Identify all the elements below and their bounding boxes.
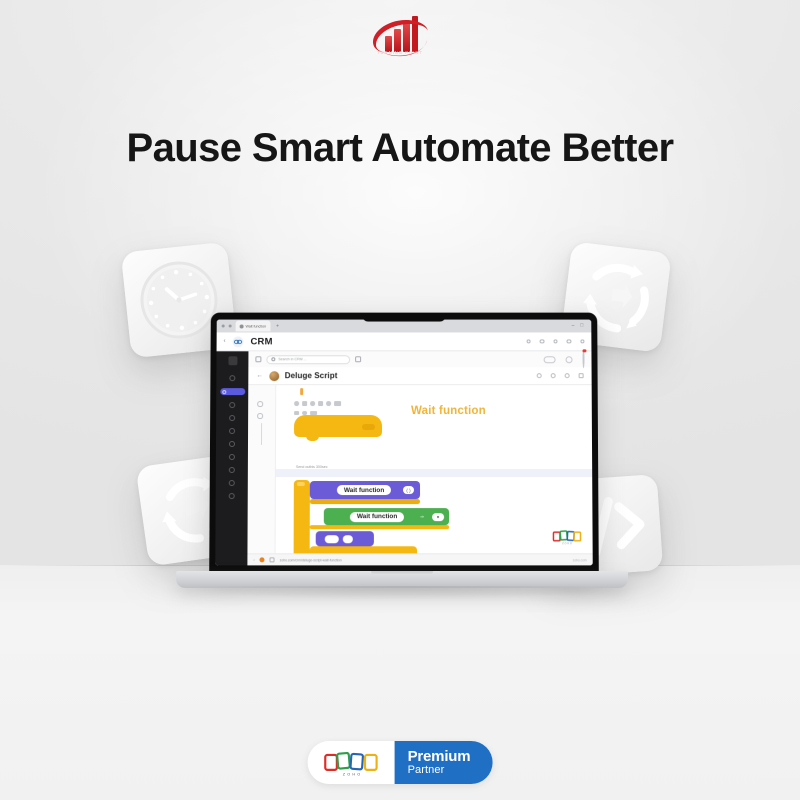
partner-badge-tier-side: Premium Partner <box>395 741 493 784</box>
svg-text:TURNING POINT: TURNING POINT <box>377 50 423 55</box>
sidebar-item-tasks[interactable] <box>229 441 235 447</box>
canvas-scrollbar[interactable] <box>261 423 262 445</box>
crm-content: Search in CRM ... <box>247 351 592 565</box>
svg-text:ZOHO: ZOHO <box>562 543 573 545</box>
browser-statusbar: ‹ zoho.com/crm/deluge-script-wait-functi… <box>247 553 592 565</box>
poster-canvas: TURNING POINT Pause Smart Automate Bette… <box>0 0 800 800</box>
canvas-toolbar <box>294 401 341 415</box>
partner-role: Partner <box>408 764 471 777</box>
sidebar-item-home[interactable] <box>229 375 235 381</box>
search-icon <box>271 357 275 361</box>
param-block-purple[interactable] <box>316 531 374 546</box>
sidebar-item-contacts[interactable] <box>229 402 235 408</box>
laptop-shadow <box>184 586 620 600</box>
svg-text:ZOHO: ZOHO <box>343 772 363 776</box>
tool-icon-2[interactable] <box>302 401 307 406</box>
page-icon[interactable] <box>270 557 275 562</box>
sidebar-item-active[interactable] <box>220 388 245 395</box>
sidebar-item-accounts[interactable] <box>229 415 235 421</box>
zoho-watermark-icon: ZOHO <box>552 529 582 545</box>
calendar-icon[interactable] <box>540 339 545 343</box>
gutter-icon-2[interactable] <box>257 413 263 418</box>
stack-spine <box>293 480 309 553</box>
tool-icon-1[interactable] <box>294 401 299 406</box>
minimize-button[interactable]: – <box>572 324 575 329</box>
recording-icon <box>260 557 265 562</box>
minimize-icon[interactable] <box>537 373 542 378</box>
crm-app-body: Search in CRM ... <box>215 351 592 565</box>
crm-quick-actions <box>544 350 585 368</box>
app-brand-icon <box>228 356 237 365</box>
param-slot-2[interactable] <box>343 535 353 543</box>
hat-block[interactable] <box>294 415 382 437</box>
canvas-heading: Wait function <box>411 405 486 417</box>
wait-function-arg-green[interactable]: ● <box>432 513 444 521</box>
user-avatar[interactable] <box>269 371 279 381</box>
document-back-button[interactable]: ← <box>256 372 263 379</box>
play-icon[interactable] <box>551 373 556 378</box>
wait-function-block-purple[interactable]: Wait function ( ) <box>310 481 420 499</box>
info-icon[interactable] <box>565 373 570 378</box>
brand-logo-icon: TURNING POINT <box>368 12 432 60</box>
notifications-button[interactable] <box>582 350 584 368</box>
sidebar-item-reports[interactable] <box>229 467 235 473</box>
maximize-button[interactable]: □ <box>580 324 583 329</box>
sidebar-item-deals[interactable] <box>229 428 235 434</box>
param-slot-1[interactable] <box>325 535 339 543</box>
tool-icon-7[interactable] <box>294 411 299 416</box>
status-url: zoho.com/crm/deluge-script-wait-function <box>280 558 342 562</box>
sidebar-item-settings[interactable] <box>229 493 235 499</box>
browser-tab[interactable]: Wait function <box>236 321 271 332</box>
tool-icon-3[interactable] <box>310 401 315 406</box>
new-tab-button[interactable]: + <box>276 323 279 329</box>
apps-icon[interactable] <box>553 339 558 343</box>
gutter-icon-1[interactable] <box>257 401 263 406</box>
laptop-notch <box>362 313 446 322</box>
crm-app-title: CRM <box>250 336 272 347</box>
partner-badge: ZOHO Premium Partner <box>308 741 493 784</box>
purple-block-base <box>310 499 420 504</box>
stack-block-1[interactable] <box>310 546 417 553</box>
sidebar-active-icon <box>222 390 226 394</box>
partner-badge-logo-side: ZOHO <box>308 741 395 784</box>
tool-icon-6[interactable] <box>335 401 342 406</box>
status-host: zoho.com <box>573 558 587 562</box>
window-controls: – □ <box>572 324 587 329</box>
tool-icon-4[interactable] <box>318 401 323 406</box>
zoho-crm-logo-icon <box>232 335 245 348</box>
back-icon[interactable]: ‹ <box>253 558 254 562</box>
crm-app-header: ‹ CRM <box>217 332 592 351</box>
search-placeholder: Search in CRM ... <box>278 357 306 361</box>
tool-icon-5[interactable] <box>326 401 331 406</box>
wait-function-block-green[interactable]: Wait function ⇒ ● <box>324 508 449 525</box>
spine-tab <box>297 482 305 486</box>
active-tab-accent <box>300 388 303 395</box>
crm-sidebar <box>215 351 248 565</box>
laptop-screen: Wait function + – □ ‹ <box>215 320 592 566</box>
wait-function-operator-green: ⇒ <box>417 513 427 521</box>
green-block-base <box>310 525 449 529</box>
row-label: Send outhis 300sec <box>296 465 328 469</box>
mention-icon[interactable] <box>355 356 361 362</box>
document-header: ← Deluge Script <box>248 367 591 385</box>
search-icon[interactable] <box>526 339 531 343</box>
notification-badge <box>583 349 586 352</box>
browser-back-icon[interactable] <box>222 325 225 328</box>
hat-block-slot[interactable] <box>362 424 375 430</box>
highlighted-row <box>276 469 592 477</box>
search-input[interactable]: Search in CRM ... <box>266 355 350 364</box>
wait-function-label-green: Wait function <box>350 512 404 522</box>
app-back-button[interactable]: ‹ <box>224 338 226 344</box>
settings-button[interactable] <box>566 356 573 363</box>
document-title: Deluge Script <box>285 371 338 380</box>
laptop-lid: Wait function + – □ ‹ <box>209 313 599 575</box>
add-record-button[interactable] <box>544 356 556 363</box>
browser-forward-icon[interactable] <box>229 325 232 328</box>
settings-icon[interactable] <box>580 339 585 343</box>
canvas-gutter <box>247 385 276 553</box>
module-icon[interactable] <box>255 356 261 362</box>
share-icon[interactable] <box>579 373 584 378</box>
document-tools <box>537 373 584 378</box>
partner-tier: Premium <box>408 749 471 764</box>
crm-search-row: Search in CRM ... <box>248 351 591 367</box>
laptop-mockup: Wait function + – □ ‹ <box>176 312 628 612</box>
script-canvas: Wait function Send outhis 300sec Wait fu… <box>247 385 592 553</box>
help-icon[interactable] <box>566 339 571 343</box>
crm-header-icons <box>526 339 584 343</box>
browser-tab-title: Wait function <box>246 324 267 328</box>
sidebar-item-meetings[interactable] <box>229 454 235 460</box>
wait-function-label-purple: Wait function <box>337 485 391 495</box>
wait-function-arg-purple[interactable]: ( ) <box>403 486 414 494</box>
favicon-icon <box>240 324 244 328</box>
page-title: Pause Smart Automate Better <box>0 126 800 171</box>
zoho-logo-icon: ZOHO <box>324 750 382 776</box>
sidebar-item-analytics[interactable] <box>229 480 235 486</box>
